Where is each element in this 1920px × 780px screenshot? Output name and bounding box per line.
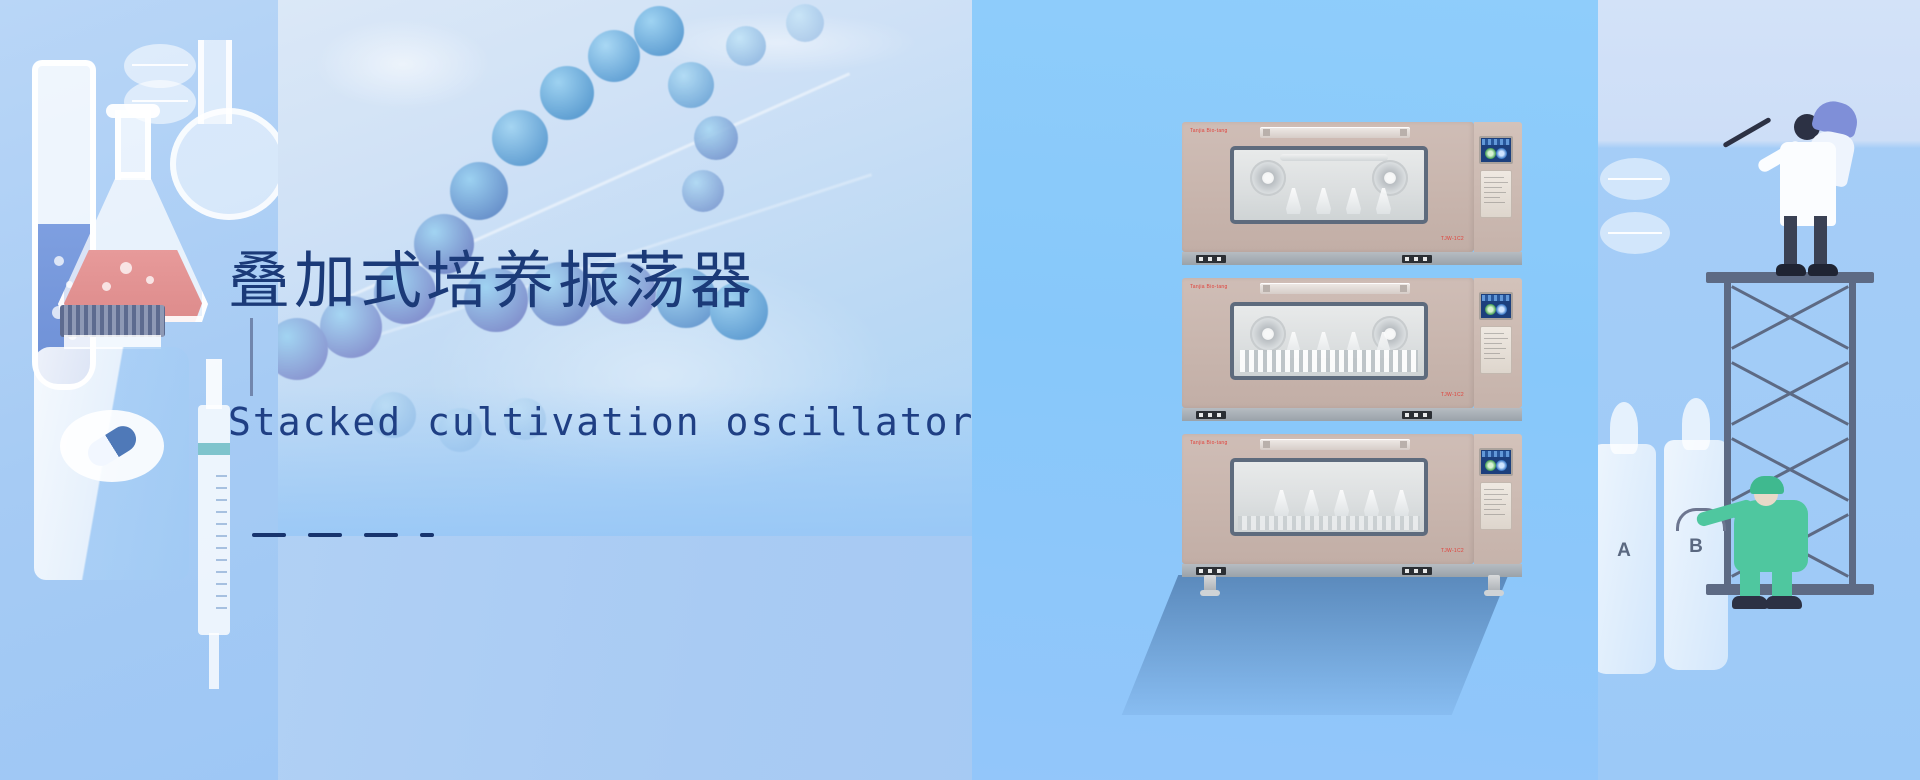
lcd-dial-blue [1496, 148, 1507, 159]
syringe-tip [209, 633, 219, 689]
bubble-icon [120, 262, 132, 274]
dash [308, 533, 342, 537]
caster-foot [1204, 575, 1216, 593]
ampoule-label-a: A [1598, 540, 1656, 562]
vent-grille-icon [1402, 255, 1432, 263]
culture-flask-icon [1316, 188, 1331, 214]
vent-grille-icon [1402, 567, 1432, 575]
lcd-dial-green [1485, 460, 1496, 471]
unit-body: Tanjia Bio-tang TJW-1C2 [1182, 122, 1474, 252]
dna-sphere [634, 6, 684, 56]
dash [252, 533, 286, 537]
brand-text: Tanjia Bio-tang [1190, 440, 1228, 446]
model-text: TJW-1C2 [1441, 236, 1464, 242]
lcd-display[interactable] [1479, 448, 1513, 476]
capsule-label-icon [1600, 158, 1670, 200]
title-accent-line [250, 318, 253, 396]
vent-grille-icon [1196, 255, 1226, 263]
door-handle[interactable] [1260, 283, 1410, 294]
technician-in-green-scrubs [1710, 480, 1840, 610]
dna-sphere [668, 62, 714, 108]
dash [420, 533, 434, 537]
unit-plinth [1182, 408, 1522, 421]
fan-icon [1250, 316, 1286, 352]
dna-sphere [540, 66, 594, 120]
shaker-unit: Tanjia Bio-tang TJW-1C2 [1182, 278, 1522, 421]
lcd-display[interactable] [1479, 292, 1513, 320]
model-text: TJW-1C2 [1441, 548, 1464, 554]
syringe-barrel [198, 405, 230, 635]
vent-grille-icon [1402, 411, 1432, 419]
leg [1740, 564, 1760, 600]
page-title: 叠加式培养振荡器 [228, 250, 756, 312]
dash [364, 533, 398, 537]
lcd-status-bar [1482, 139, 1510, 145]
bubble-icon [146, 276, 154, 284]
shoe [1732, 596, 1768, 609]
ampoule-tip [1682, 398, 1710, 450]
door-handle[interactable] [1260, 439, 1410, 450]
bubble-icon [102, 282, 111, 291]
scientist-with-telescope [1758, 98, 1878, 288]
tower-leg [1849, 280, 1856, 592]
shoe [1808, 264, 1838, 276]
culture-flask-icon [1394, 490, 1409, 516]
tube-rack [1240, 350, 1418, 372]
interior-bar [1280, 154, 1388, 161]
fan-icon [1250, 160, 1286, 196]
lcd-dial-green [1485, 304, 1496, 315]
telescope-icon [1722, 117, 1771, 148]
brand-text: Tanjia Bio-tang [1190, 128, 1228, 134]
product-shadow [1122, 575, 1509, 715]
lab-coat [1780, 142, 1836, 226]
culture-flask-icon [1304, 490, 1319, 516]
unit-side-column [1474, 434, 1522, 564]
fan-icon [1372, 160, 1408, 196]
unit-plinth [1182, 252, 1522, 265]
dna-sphere [588, 30, 640, 82]
shaker-unit: Tanjia Bio-tang TJW-1C2 [1182, 122, 1522, 265]
culture-flask-icon [1286, 188, 1301, 214]
shoe [1776, 264, 1806, 276]
right-illustration-panel: A B [1598, 0, 1920, 780]
caster-foot [1488, 575, 1500, 593]
vent-grille-icon [1196, 567, 1226, 575]
lcd-dial-green [1485, 148, 1496, 159]
culture-flask-icon [1364, 490, 1379, 516]
green-cap-icon [1750, 476, 1784, 494]
medicine-bottle-icon [34, 305, 189, 580]
product-banner: Tanjia Bio-tang TJW-1C2 [0, 0, 1920, 780]
syringe-band [198, 443, 230, 455]
shoe [1766, 596, 1802, 609]
shaker-tray [1238, 516, 1420, 530]
page-subtitle: Stacked cultivation oscillator [228, 400, 974, 444]
unit-plinth [1182, 564, 1522, 577]
capsule-label-icon [1600, 212, 1670, 254]
left-illustration-panel [0, 0, 278, 780]
dna-sphere [786, 4, 824, 42]
lcd-dial-blue [1496, 304, 1507, 315]
dna-sphere [694, 116, 738, 160]
unit-body: Tanjia Bio-tang TJW-1C2 [1182, 278, 1474, 408]
lcd-display[interactable] [1479, 136, 1513, 164]
spec-label-plate [1480, 326, 1512, 374]
syringe-plunger [206, 359, 222, 409]
bottle-cap [60, 305, 165, 337]
ampoule-a: A [1598, 444, 1656, 674]
lcd-dial-blue [1496, 460, 1507, 471]
viewing-window [1230, 146, 1428, 224]
spec-label-plate [1480, 170, 1512, 218]
green-scrubs [1734, 500, 1808, 572]
flask-outline [58, 172, 208, 322]
dna-sphere [492, 110, 548, 166]
model-text: TJW-1C2 [1441, 392, 1464, 398]
leg [1784, 216, 1797, 268]
dna-sphere [726, 26, 766, 66]
dna-sphere [682, 170, 724, 212]
door-handle[interactable] [1260, 127, 1410, 138]
ampoule-tip [1610, 402, 1638, 454]
shaker-unit: Tanjia Bio-tang TJW-1C2 [1182, 434, 1522, 577]
erlenmeyer-flask-icon [58, 110, 208, 320]
stacked-incubator-shaker: Tanjia Bio-tang TJW-1C2 [1182, 122, 1522, 580]
culture-flask-icon [1274, 490, 1289, 516]
culture-flask-icon [1346, 188, 1361, 214]
vent-grille-icon [1196, 411, 1226, 419]
brand-text: Tanjia Bio-tang [1190, 284, 1228, 290]
culture-flask-icon [1334, 490, 1349, 516]
viewing-window [1230, 458, 1428, 536]
lcd-status-bar [1482, 295, 1510, 301]
decorative-dashes [252, 533, 434, 537]
leg [1772, 564, 1792, 600]
lcd-status-bar [1482, 451, 1510, 457]
spec-label-plate [1480, 482, 1512, 530]
flask-neck [115, 110, 151, 180]
fan-icon [1372, 316, 1408, 352]
leg [1814, 216, 1827, 268]
unit-side-column [1474, 122, 1522, 252]
unit-side-column [1474, 278, 1522, 408]
unit-body: Tanjia Bio-tang TJW-1C2 [1182, 434, 1474, 564]
viewing-window [1230, 302, 1428, 380]
dna-sphere [450, 162, 508, 220]
